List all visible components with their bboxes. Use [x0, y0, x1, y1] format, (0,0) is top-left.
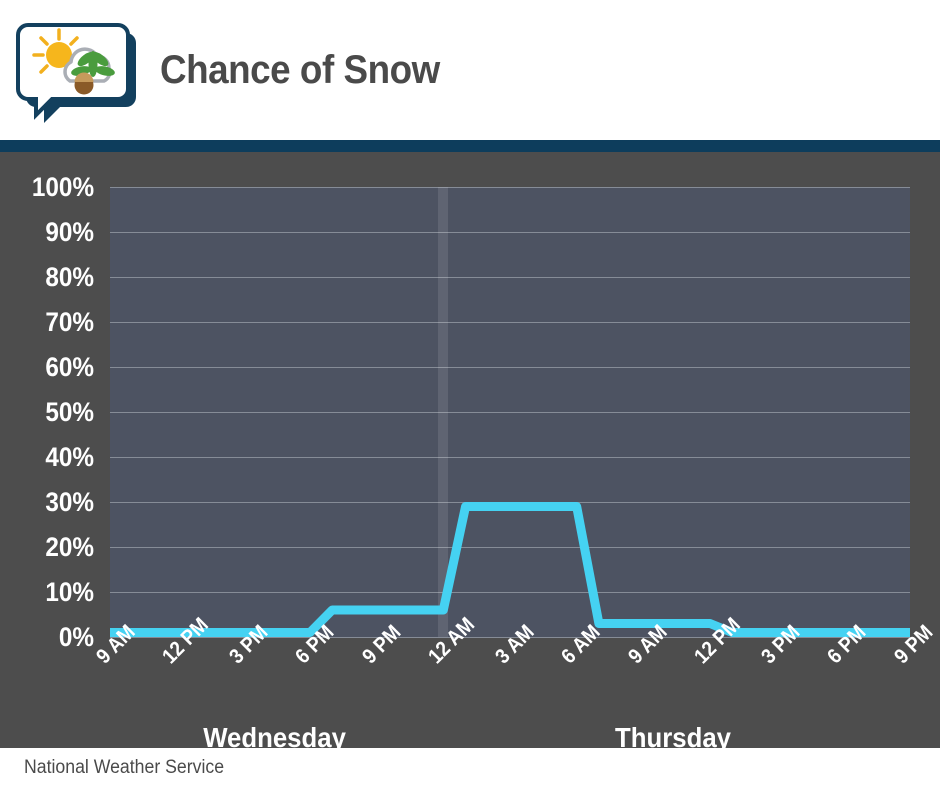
day-label-thursday: Thursday [615, 722, 731, 754]
plot-area [110, 187, 910, 637]
y-tick-label: 70% [45, 309, 94, 336]
day-label-wednesday: Wednesday [203, 722, 346, 754]
y-tick-label: 90% [45, 219, 94, 246]
y-tick-label: 100% [32, 174, 94, 201]
page-header: Chance of Snow [0, 0, 940, 140]
y-tick-label: 80% [45, 264, 94, 291]
y-tick-label: 0% [59, 624, 94, 651]
page-title: Chance of Snow [160, 48, 440, 93]
page-footer: National Weather Service [0, 748, 940, 788]
y-tick-label: 60% [45, 354, 94, 381]
snow-chance-line-series [110, 187, 910, 637]
y-tick-label: 20% [45, 534, 94, 561]
header-divider [0, 140, 940, 152]
attribution-text: National Weather Service [24, 757, 224, 779]
y-tick-label: 50% [45, 399, 94, 426]
y-tick-label: 30% [45, 489, 94, 516]
y-tick-label: 40% [45, 444, 94, 471]
y-tick-label: 10% [45, 579, 94, 606]
weather-speech-bubble-sun-cloud-acorn-icon [14, 15, 138, 125]
chart-panel: 100% 90% 80% 70% 60% 50% 40% 30% 20% 10%… [0, 152, 940, 748]
